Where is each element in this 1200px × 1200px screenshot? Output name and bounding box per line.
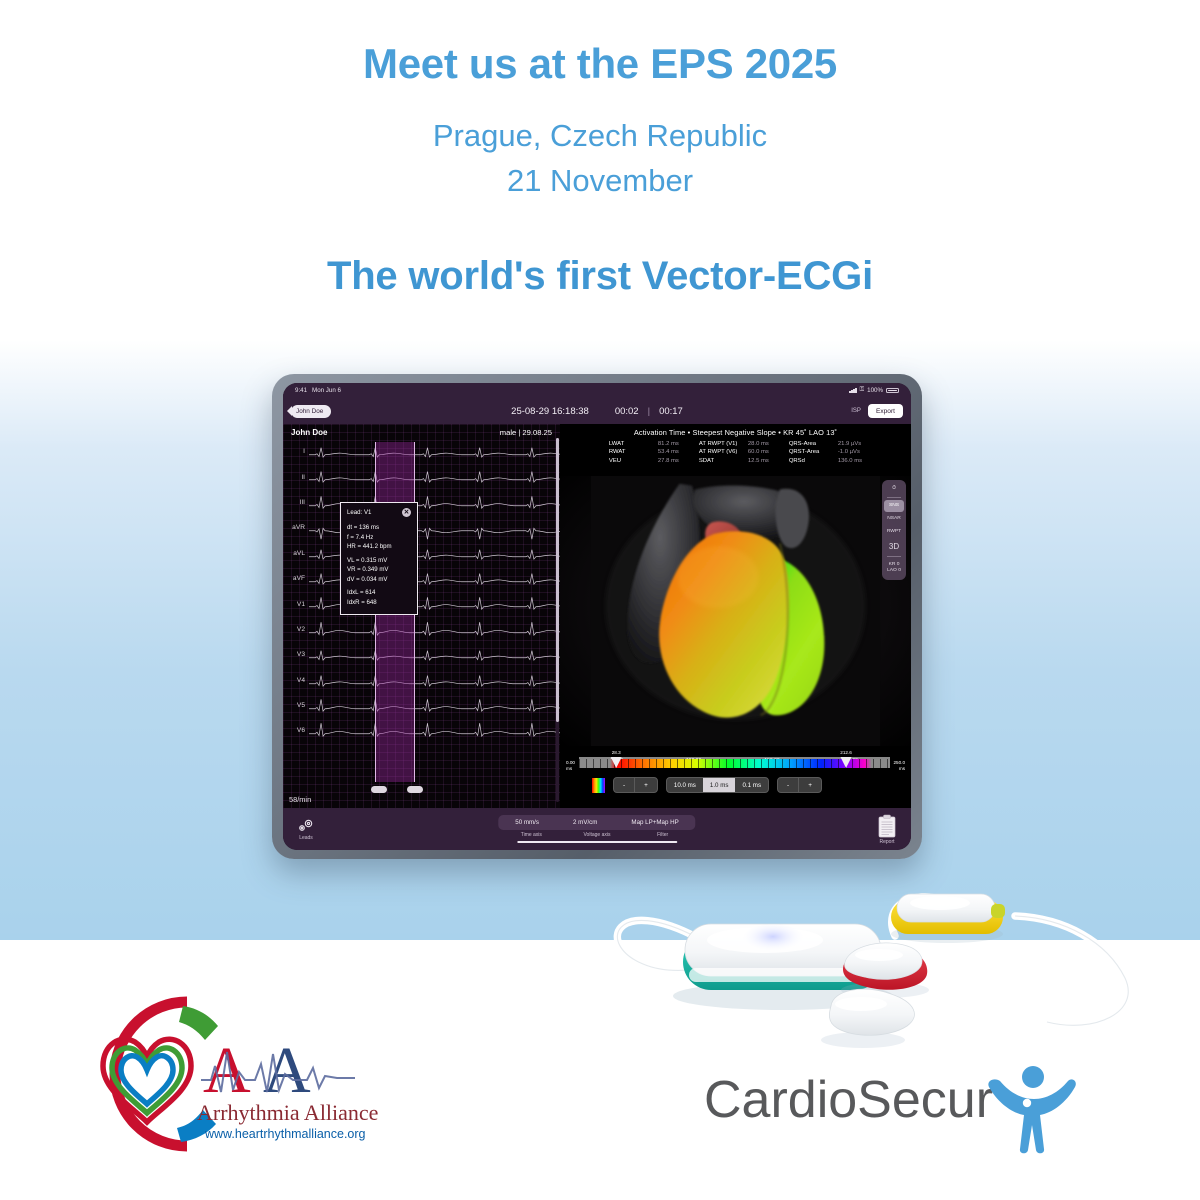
- lead-label-v1: V1: [283, 601, 309, 608]
- timer-total: 00:17: [659, 406, 683, 417]
- display-settings[interactable]: 50 mm/s2 mV/cmMap LP+Map HP Time axisVol…: [498, 815, 695, 843]
- ecg-lead-row[interactable]: V6: [283, 718, 560, 743]
- gears-icon: [297, 818, 315, 834]
- segment-value[interactable]: 50 mm/s: [498, 815, 556, 830]
- low-plus-button[interactable]: +: [634, 778, 657, 792]
- colormap-swatch-icon[interactable]: [592, 778, 605, 793]
- lead-label-v2: V2: [283, 626, 309, 633]
- app-footer: Leads 50 mm/s2 mV/cmMap LP+Map HP Time a…: [283, 808, 911, 850]
- scale-range-start: 0.00 ms: [566, 750, 575, 771]
- ecg-lead-row[interactable]: II: [283, 464, 560, 489]
- arrhythmia-alliance-logo: A A Arrhythmia Alliance www.heartrhythma…: [55, 980, 395, 1165]
- report-label: Report: [879, 839, 894, 845]
- metric-row: QRS-Area21.9 µVs: [789, 441, 862, 447]
- leads-label: Leads: [299, 835, 313, 841]
- ecg-lead-row[interactable]: I: [283, 439, 560, 464]
- map-tool-rotation[interactable]: KR 0LAO 0: [884, 559, 904, 577]
- tooltip-row: VL = 0.315 mV: [347, 556, 411, 565]
- report-button[interactable]: Report: [877, 814, 897, 845]
- metric-key: QRS-Area: [789, 441, 833, 447]
- segment-label: Filter: [630, 832, 696, 838]
- event-date: 21 November: [0, 159, 1200, 204]
- patient-meta: male | 29.08.25: [500, 428, 552, 437]
- tooltip-row: f = 7.4 Hz: [347, 533, 411, 542]
- metric-row: VEU27.8 ms: [609, 458, 679, 464]
- map-tool-nsar[interactable]: NSAR: [884, 513, 904, 525]
- high-minus-button[interactable]: -: [778, 778, 798, 792]
- battery-percent: 100%: [867, 387, 883, 394]
- ecg-lead-row[interactable]: V4: [283, 668, 560, 693]
- aa-name: Arrhythmia Alliance: [197, 1100, 378, 1125]
- ecg-patient-bar: John Doe male | 29.08.25: [283, 424, 560, 439]
- segment-labels: Time axisVoltage axisFilter: [498, 832, 695, 838]
- scale-range-end: 250.0 ms: [894, 750, 906, 771]
- map-tools[interactable]: ⏱SNSNSARRWPT3DKR 0LAO 0: [882, 480, 906, 580]
- tagline: The world's first Vector-ECGi: [0, 254, 1200, 299]
- tooltip-row: IdxL = 614: [347, 588, 411, 597]
- ecg-lead-row[interactable]: V1: [283, 591, 560, 616]
- lead-label-avr: aVR: [283, 524, 309, 531]
- metric-key: LWAT: [609, 441, 653, 447]
- lead-label-avf: aVF: [283, 575, 309, 582]
- isp-label: ISP: [851, 408, 861, 414]
- metric-row: AT RWPT (V1)28.0 ms: [699, 441, 769, 447]
- high-plus-button[interactable]: +: [798, 778, 821, 792]
- cardiosecur-logo: CardioSecur: [700, 1055, 1090, 1155]
- selection-handle-left[interactable]: [371, 786, 387, 793]
- metric-value: 81.2 ms: [658, 441, 679, 447]
- activation-map-panel[interactable]: Activation Time • Steepest Negative Slop…: [560, 424, 911, 808]
- metric-row: LWAT81.2 ms: [609, 441, 679, 447]
- step-option[interactable]: 0.1 ms: [735, 778, 768, 792]
- metric-key: VEU: [609, 458, 653, 464]
- marker-high: 212.6: [840, 750, 852, 755]
- metric-row: QRST-Area-1.0 µVs: [789, 449, 862, 455]
- ecg-sensor-device: [595, 872, 1175, 1062]
- ios-status-bar: 9:41 Mon Jun 6 ⚿ 100%: [283, 383, 911, 398]
- clipboard-icon: [877, 814, 897, 838]
- wifi-icon: ⚿: [860, 387, 865, 394]
- status-date: Mon Jun 6: [312, 387, 341, 394]
- metric-value: 21.9 µVs: [838, 441, 861, 447]
- map-metrics: LWAT81.2 msRWAT53.4 msVEU27.8 msAT RWPT …: [560, 441, 911, 469]
- metric-key: AT RWPT (V1): [699, 441, 743, 447]
- ecg-lead-row[interactable]: III: [283, 490, 560, 515]
- selection-handle-right[interactable]: [407, 786, 423, 793]
- ecg-lead-row[interactable]: V5: [283, 693, 560, 718]
- lead-trace: [309, 718, 560, 743]
- lead-label-iii: III: [283, 499, 309, 506]
- page-title: Meet us at the EPS 2025: [0, 40, 1200, 88]
- colorbar-markers: 28.3 212.6: [579, 750, 890, 757]
- ecg-lead-row[interactable]: V2: [283, 617, 560, 642]
- lead-label-i: I: [283, 448, 309, 455]
- back-button-label: John Doe: [296, 408, 323, 415]
- app-body: John Doe male | 29.08.25 IIIIIIaVRaVLaVF…: [283, 424, 911, 808]
- tooltip-row: dV = 0.034 mV: [347, 575, 411, 584]
- tooltip-row: HR = 441.2 bpm: [347, 542, 411, 551]
- lead-trace: [309, 439, 560, 464]
- color-scale-area[interactable]: 0.00 ms 28.3 212.6 50.00 100.00 150.00: [560, 746, 911, 808]
- lead-label-v6: V6: [283, 727, 309, 734]
- ecg-lead-row[interactable]: V3: [283, 642, 560, 667]
- map-tool-timer-icon[interactable]: ⏱: [884, 483, 904, 495]
- heart-3d-model[interactable]: [560, 476, 911, 746]
- lead-trace: [309, 617, 560, 642]
- tooltip-row: dt = 136 ms: [347, 523, 411, 532]
- map-title: Activation Time • Steepest Negative Slop…: [560, 424, 911, 441]
- aa-url: www.heartrhythmalliance.org: [204, 1127, 366, 1141]
- tooltip-group-3: IdxL = 614 IdxR = 648: [347, 588, 411, 607]
- metric-row: RWAT53.4 ms: [609, 449, 679, 455]
- status-time: 9:41: [295, 387, 307, 394]
- high-stepper[interactable]: - +: [777, 777, 822, 793]
- export-button[interactable]: Export: [868, 404, 903, 418]
- ecg-scrollbar[interactable]: [556, 438, 559, 802]
- metric-column: QRS-Area21.9 µVsQRST-Area-1.0 µVsQRSd136…: [789, 441, 862, 464]
- signal-bars-icon: [849, 388, 856, 393]
- metric-key: QRST-Area: [789, 449, 833, 455]
- tooltip-row: VR = 0.349 mV: [347, 565, 411, 574]
- metric-row: AT RWPT (V6)60.0 ms: [699, 449, 769, 455]
- metric-value: 60.0 ms: [748, 449, 769, 455]
- metric-column: LWAT81.2 msRWAT53.4 msVEU27.8 ms: [609, 441, 679, 464]
- lead-label-ii: II: [283, 474, 309, 481]
- lead-trace: [309, 642, 560, 667]
- segment-label: Voltage axis: [564, 832, 630, 838]
- tooltip-title: Lead: V1: [347, 508, 371, 517]
- lead-trace: [309, 668, 560, 693]
- lead-label-avl: aVL: [283, 550, 309, 557]
- segmented-control[interactable]: 50 mm/s2 mV/cmMap LP+Map HP: [498, 815, 695, 830]
- metric-key: AT RWPT (V6): [699, 449, 743, 455]
- tooltip-group-1: dt = 136 ms f = 7.4 Hz HR = 441.2 bpm: [347, 523, 411, 551]
- heart-rate-label: 58/min: [289, 795, 311, 804]
- metric-value: 136.0 ms: [838, 458, 862, 464]
- recording-timestamp: 25-08-29 16:18:38: [511, 406, 589, 417]
- cardiosecur-figure-icon: [988, 1066, 1075, 1153]
- metric-row: SDAT12.5 ms: [699, 458, 769, 464]
- low-minus-button[interactable]: -: [614, 778, 634, 792]
- metric-row: QRSd136.0 ms: [789, 458, 862, 464]
- ecg-lead-row[interactable]: aVL: [283, 541, 560, 566]
- map-tool-sns[interactable]: SNS: [884, 500, 904, 512]
- ecg-lead-row[interactable]: aVF: [283, 566, 560, 591]
- app-header: John Doe 25-08-29 16:18:38 00:02 | 00:17…: [283, 398, 911, 424]
- metric-value: 12.5 ms: [748, 458, 769, 464]
- tool-separator: [887, 556, 901, 557]
- low-stepper[interactable]: - +: [613, 777, 658, 793]
- metric-key: SDAT: [699, 458, 743, 464]
- step-size-selector[interactable]: 10.0 ms1.0 ms0.1 ms: [666, 777, 769, 793]
- timer-divider: |: [648, 406, 650, 417]
- lead-trace: [309, 464, 560, 489]
- lead-label-v3: V3: [283, 651, 309, 658]
- svg-text:A: A: [203, 1034, 251, 1107]
- leads-button[interactable]: Leads: [297, 818, 315, 841]
- ecg-panel[interactable]: John Doe male | 29.08.25 IIIIIIaVRaVLaVF…: [283, 424, 560, 808]
- lead-label-v4: V4: [283, 677, 309, 684]
- metric-value: 28.0 ms: [748, 441, 769, 447]
- step-option[interactable]: 1.0 ms: [703, 778, 736, 792]
- timer-current: 00:02: [615, 406, 639, 417]
- tooltip-row: IdxR = 648: [347, 598, 411, 607]
- ecg-lead-row[interactable]: aVR: [283, 515, 560, 540]
- metric-value: 53.4 ms: [658, 449, 679, 455]
- metric-key: RWAT: [609, 449, 653, 455]
- tablet-screen: 9:41 Mon Jun 6 ⚿ 100% John Doe 25-08-29 …: [283, 383, 911, 850]
- segment-value[interactable]: Map LP+Map HP: [614, 815, 695, 830]
- step-option[interactable]: 10.0 ms: [667, 778, 703, 792]
- event-location: Prague, Czech Republic: [0, 114, 1200, 159]
- lead-label-v5: V5: [283, 702, 309, 709]
- metric-column: AT RWPT (V1)28.0 msAT RWPT (V6)60.0 msSD…: [699, 441, 769, 464]
- lead-measurement-tooltip: Lead: V1 ✕ dt = 136 ms f = 7.4 Hz HR = 4…: [340, 502, 418, 615]
- colorbar-track[interactable]: 50.00 100.00 150.00 200.00: [579, 757, 890, 768]
- headline-block: Meet us at the EPS 2025 Prague, Czech Re…: [0, 40, 1200, 299]
- battery-icon: [886, 388, 899, 394]
- map-tool-rwpt[interactable]: RWPT: [884, 526, 904, 538]
- marker-low: 28.3: [612, 750, 621, 755]
- map-tool-three-d[interactable]: 3D: [884, 539, 904, 555]
- tooltip-group-2: VL = 0.315 mV VR = 0.349 mV dV = 0.034 m…: [347, 556, 411, 584]
- cardiosecur-wordmark: CardioSecur: [704, 1071, 993, 1129]
- ecg-lead-rows: IIIIIIaVRaVLaVFV1V2V3V4V5V6: [283, 439, 560, 744]
- tablet-device: 9:41 Mon Jun 6 ⚿ 100% John Doe 25-08-29 …: [272, 374, 922, 859]
- header-center: 25-08-29 16:18:38 00:02 | 00:17: [283, 398, 911, 424]
- segment-value[interactable]: 2 mV/cm: [556, 815, 614, 830]
- metric-value: 27.8 ms: [658, 458, 679, 464]
- tool-separator: [887, 497, 901, 498]
- segment-label: Time axis: [498, 832, 564, 838]
- back-button[interactable]: John Doe: [291, 405, 331, 418]
- close-icon[interactable]: ✕: [402, 508, 411, 517]
- segment-underline: [517, 841, 677, 843]
- patient-name: John Doe: [291, 428, 327, 437]
- lead-trace: [309, 693, 560, 718]
- metric-value: -1.0 µVs: [838, 449, 860, 455]
- metric-key: QRSd: [789, 458, 833, 464]
